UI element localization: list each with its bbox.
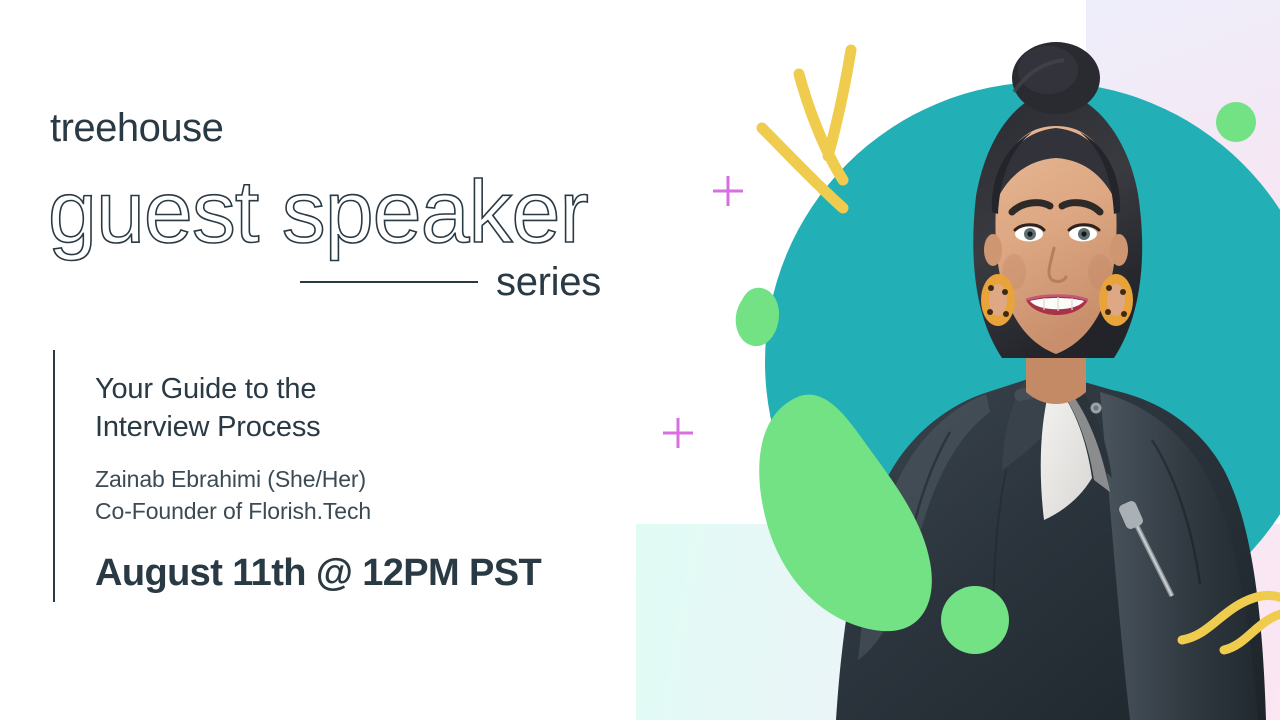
talk-title-line2: Interview Process [95,408,613,446]
guest-speaker-headline: guest speaker [46,160,646,270]
series-divider-rule [300,281,478,283]
headline-text: guest speaker [48,162,588,261]
event-detail-block: Your Guide to the Interview Process Zain… [53,350,613,602]
magenta-plus-mark [713,176,743,206]
promo-graphic: treehouse guest speaker series Your Guid… [0,0,1280,720]
event-datetime: August 11th @ 12PM PST [95,554,613,592]
speaker-role: Co-Founder of Florish.Tech [95,495,613,528]
magenta-plus-mark-lower [663,418,693,448]
speaker-portrait [800,0,1280,720]
talk-title: Your Guide to the Interview Process [95,370,613,447]
treehouse-wordmark: treehouse [50,108,223,148]
series-label: series [496,262,601,302]
left-text-column: treehouse guest speaker series Your Guid… [0,0,660,720]
series-row: series [300,258,640,306]
portrait-illustration [800,0,1280,720]
speaker-name: Zainab Ebrahimi (She/Her) [95,463,613,496]
talk-title-line1: Your Guide to the [95,370,613,408]
